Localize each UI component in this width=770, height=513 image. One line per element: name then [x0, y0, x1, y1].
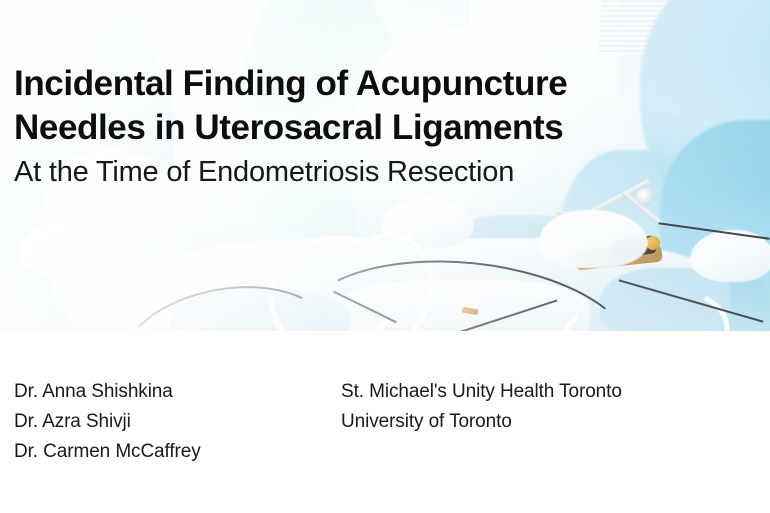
author-name: Dr. Azra Shivji — [14, 407, 324, 437]
affiliations-column: St. Michael's Unity Health Toronto Unive… — [341, 377, 741, 437]
page-title-line-2: Needles in Uterosacral Ligaments — [14, 106, 714, 150]
hero-banner: Incidental Finding of Acupuncture Needle… — [0, 0, 770, 331]
page-subtitle: At the Time of Endometriosis Resection — [14, 154, 714, 190]
author-name: Dr. Anna Shishkina — [14, 377, 324, 407]
authors-column: Dr. Anna Shishkina Dr. Azra Shivji Dr. C… — [14, 377, 324, 467]
title-slide: Incidental Finding of Acupuncture Needle… — [0, 0, 770, 513]
credits-section: Dr. Anna Shishkina Dr. Azra Shivji Dr. C… — [0, 331, 770, 513]
author-name: Dr. Carmen McCaffrey — [14, 437, 324, 467]
affiliation: St. Michael's Unity Health Toronto — [341, 377, 741, 407]
page-title-line-1: Incidental Finding of Acupuncture — [14, 62, 714, 106]
title-block: Incidental Finding of Acupuncture Needle… — [14, 62, 714, 190]
affiliation: University of Toronto — [341, 407, 741, 437]
